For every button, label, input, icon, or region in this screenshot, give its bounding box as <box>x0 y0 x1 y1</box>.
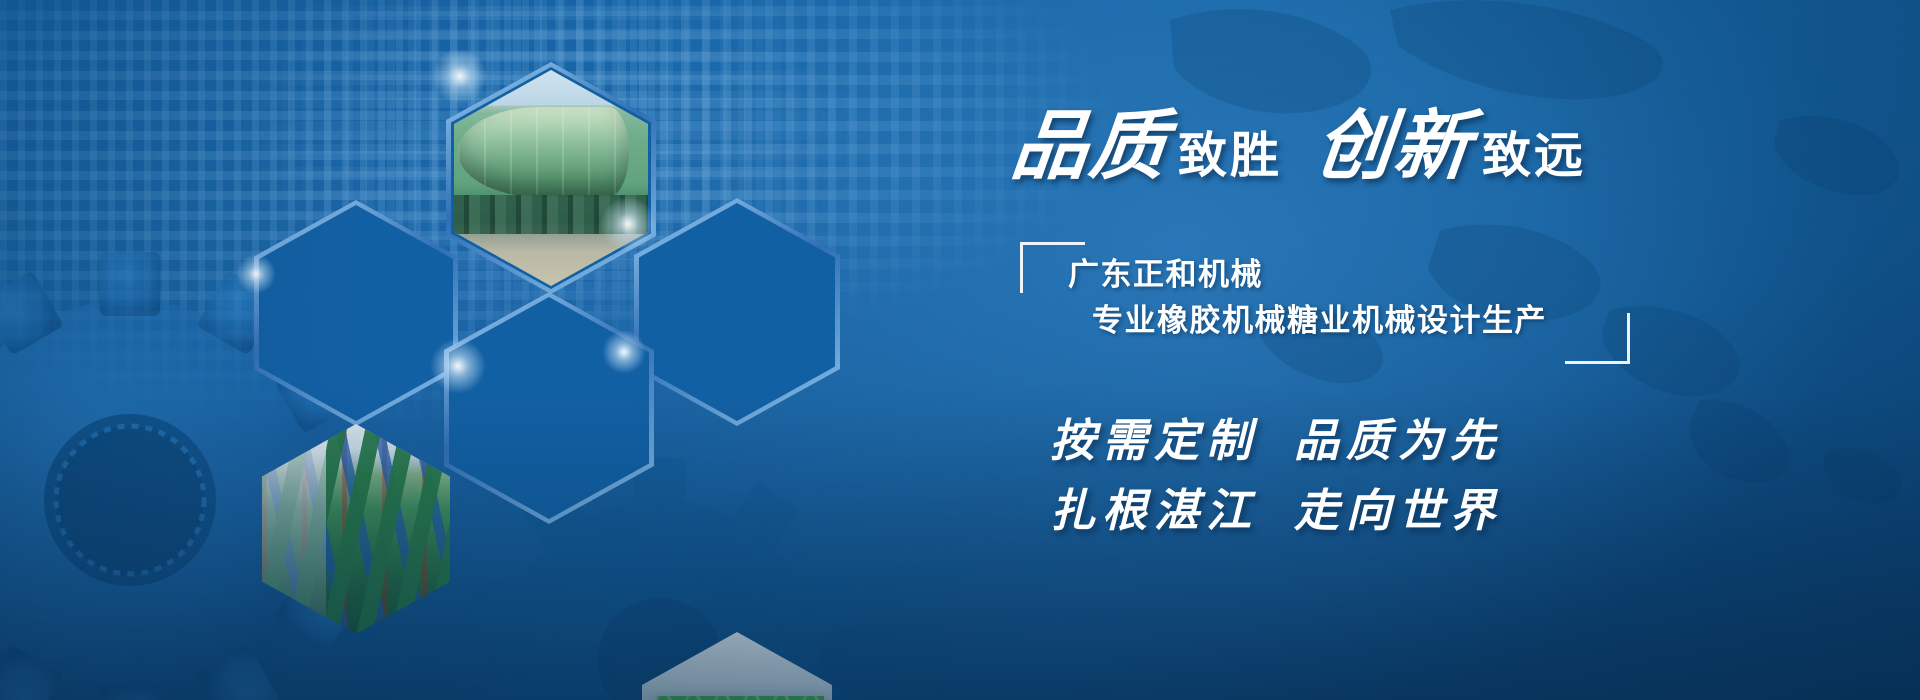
headline-part2-small: 致远 <box>1482 131 1586 180</box>
slogan-2-b: 走向世界 <box>1294 484 1502 537</box>
subtitle-line-business: 专业橡胶机械糖业机械设计生产 <box>1012 298 1572 344</box>
bracket-corner-top-left-icon <box>1020 242 1085 293</box>
slogan-2-a: 扎根湛江 <box>1050 484 1258 537</box>
slogan-line-1: 按需定制品质为先 <box>1012 406 1632 476</box>
banner-copy: 品质致胜创新致远 广东正和机械 专业橡胶机械糖业机械设计生产 按需定制品质为先 … <box>1012 108 1632 546</box>
bracket-corner-bottom-right-icon <box>1565 313 1630 364</box>
subtitle-block: 广东正和机械 专业橡胶机械糖业机械设计生产 <box>1012 242 1572 350</box>
subtitle-line-company: 广东正和机械 <box>1012 252 1572 298</box>
promo-banner: 品质致胜创新致远 广东正和机械 专业橡胶机械糖业机械设计生产 按需定制品质为先 … <box>0 0 1920 700</box>
slogan-line-2: 扎根湛江走向世界 <box>1012 476 1632 546</box>
headline-part1-small: 致胜 <box>1178 131 1282 180</box>
slogan-1-b: 品质为先 <box>1294 414 1502 467</box>
headline: 品质致胜创新致远 <box>1012 108 1632 204</box>
headline-part2-big: 创新 <box>1312 108 1476 184</box>
slogan-1-a: 按需定制 <box>1050 414 1258 467</box>
headline-part1-big: 品质 <box>1008 108 1172 184</box>
slogan-block: 按需定制品质为先 扎根湛江走向世界 <box>1012 406 1632 546</box>
sparkle-glint-icon <box>432 48 488 104</box>
